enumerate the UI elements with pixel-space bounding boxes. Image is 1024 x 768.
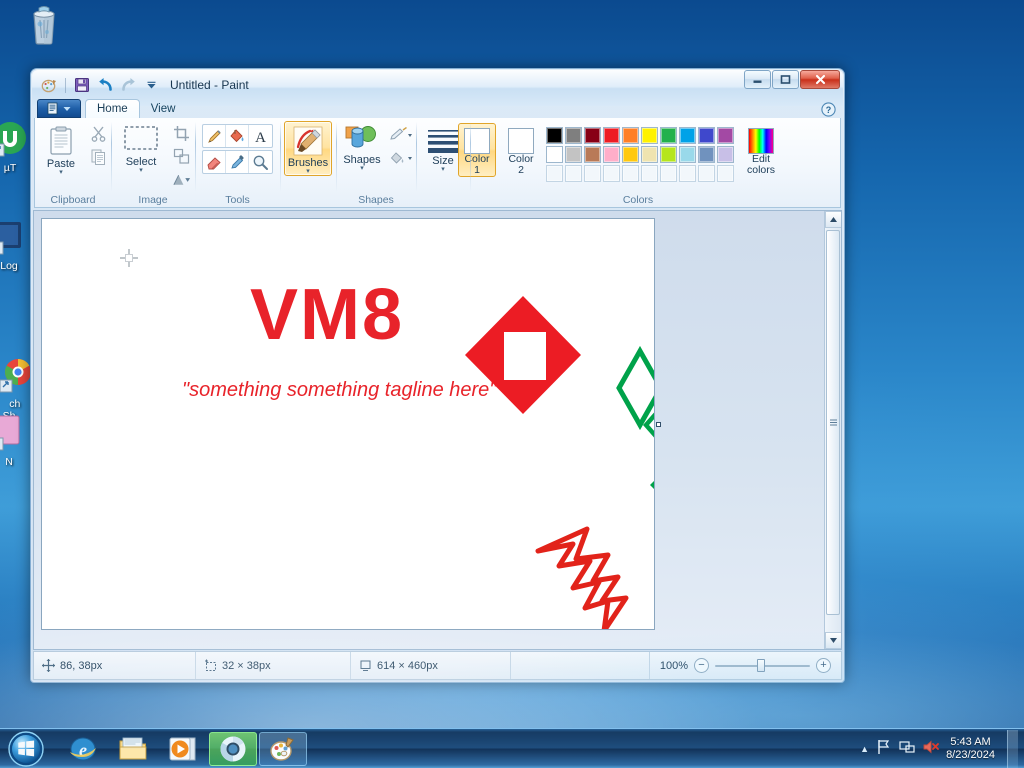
status-selection-size-text: 32 × 38px: [222, 660, 271, 672]
color-swatch-r3-c3[interactable]: [584, 165, 601, 182]
color-swatch-r2-c3[interactable]: [584, 146, 601, 163]
zoom-control[interactable]: 100% − +: [650, 658, 841, 673]
redo-icon[interactable]: [118, 76, 138, 95]
status-cursor-position: 86, 38px: [34, 652, 196, 679]
color-swatch-r1-c2[interactable]: [565, 127, 582, 144]
canvas-artwork: VM8 "something something tagline here": [42, 219, 655, 630]
taskbar[interactable]: e: [0, 728, 1024, 768]
desktop-icon-label: Log: [0, 260, 18, 272]
color-swatch-r1-c9[interactable]: [698, 127, 715, 144]
show-desktop-button[interactable]: [1007, 730, 1018, 768]
scroll-up-button[interactable]: [825, 211, 842, 228]
palette-row-1: [546, 127, 734, 144]
color-swatch-r1-c3[interactable]: [584, 127, 601, 144]
ribbon-group-colors: Color 1 Color 2 Edi: [470, 118, 770, 207]
eraser-tool-button[interactable]: [203, 151, 226, 173]
crop-button[interactable]: [170, 123, 192, 144]
clock-time: 5:43 AM: [946, 736, 995, 749]
ribbon-group-brushes: Brushes ▾: [280, 118, 336, 207]
color-swatch-r1-c4[interactable]: [603, 127, 620, 144]
internet-explorer-icon: e: [68, 734, 98, 764]
color-swatch-r1-c8[interactable]: [679, 127, 696, 144]
color-swatch-r1-c1[interactable]: [546, 127, 563, 144]
network-icon[interactable]: [899, 739, 915, 758]
chevron-down-icon[interactable]: ▾: [59, 170, 63, 176]
chromium-icon: [219, 735, 247, 763]
svg-text:A: A: [255, 130, 266, 145]
color-swatch-r3-c4[interactable]: [603, 165, 620, 182]
scissors-icon: [90, 125, 107, 142]
folder-explorer-icon: [118, 735, 148, 763]
clock-date: 8/23/2024: [946, 749, 995, 762]
taskbar-media-player[interactable]: [159, 732, 207, 766]
color-swatch-r2-c4[interactable]: [603, 146, 620, 163]
color-1-swatch: [464, 128, 490, 154]
color-swatch-r2-c9[interactable]: [698, 146, 715, 163]
group-label-colors: Colors: [578, 194, 698, 206]
start-orb-icon: [7, 730, 45, 768]
close-button[interactable]: [800, 70, 840, 89]
brushes-button[interactable]: Brushes ▾: [284, 121, 332, 176]
outline-pen-icon: [389, 127, 413, 144]
color-swatch-r2-c7[interactable]: [660, 146, 677, 163]
color-picker-button[interactable]: [226, 151, 249, 173]
window-title: Untitled - Paint: [170, 78, 249, 92]
drawing-canvas[interactable]: VM8 "something something tagline here": [41, 218, 655, 630]
tools-row-2: [202, 150, 273, 174]
chevron-down-icon[interactable]: ▾: [306, 169, 310, 175]
recycle-bin-icon: [8, 4, 80, 46]
green-diamond-tiny: [650, 477, 655, 493]
undo-icon[interactable]: [95, 76, 115, 95]
zoom-level-text: 100%: [660, 660, 688, 672]
status-cursor-position-text: 86, 38px: [60, 660, 102, 672]
zoom-out-button[interactable]: −: [694, 658, 709, 673]
fill-tool-button[interactable]: [226, 125, 249, 147]
artwork-tagline-text: "something something tagline here": [182, 379, 497, 401]
color-2-swatch: [508, 128, 534, 154]
artwork-title-text: VM8: [250, 275, 404, 355]
palette-row-2: [546, 146, 734, 163]
minimize-button[interactable]: [744, 70, 771, 89]
start-button[interactable]: [0, 730, 52, 768]
shape-outline-button[interactable]: [388, 125, 414, 146]
status-image-size-text: 614 × 460px: [377, 660, 438, 672]
shape-fill-button[interactable]: [388, 148, 414, 169]
ribbon-group-shapes: Shapes ▾: [336, 118, 416, 207]
status-image-size: 614 × 460px: [351, 652, 511, 679]
qat-separator: [65, 78, 66, 93]
color-swatch-r2-c1[interactable]: [546, 146, 563, 163]
status-selection-size: 32 × 38px: [196, 652, 351, 679]
color-swatch-r3-c9[interactable]: [698, 165, 715, 182]
select-rectangle-icon: [122, 125, 160, 155]
cut-button[interactable]: [87, 123, 109, 144]
color-swatch-r2-c8[interactable]: [679, 146, 696, 163]
action-center-flag-icon[interactable]: [876, 739, 892, 758]
taskbar-windows-explorer[interactable]: [109, 732, 157, 766]
magnifier-tool-button[interactable]: [249, 151, 272, 173]
magnifier-icon: [252, 154, 269, 171]
shapes-icon: [345, 125, 379, 153]
group-label-shapes: Shapes: [336, 194, 416, 206]
ribbon-group-clipboard: Paste ▾: [35, 118, 111, 207]
paste-icon: [45, 125, 77, 157]
edit-colors-icon: [748, 128, 774, 154]
color-1-label-line2: 1: [474, 165, 480, 176]
taskbar-paint-app[interactable]: [259, 732, 307, 766]
zoom-in-button[interactable]: +: [816, 658, 831, 673]
color-swatch-r3-c10[interactable]: [717, 165, 734, 182]
maximize-button[interactable]: [772, 70, 799, 89]
group-label-clipboard: Clipboard: [35, 194, 111, 206]
image-size-icon: [359, 659, 372, 672]
color-swatch-r1-c7[interactable]: [660, 127, 677, 144]
crosshair-cursor: [120, 249, 138, 267]
chevron-down-icon[interactable]: ▾: [360, 166, 364, 172]
color-swatch-r1-c6[interactable]: [641, 127, 658, 144]
color-palette[interactable]: [546, 123, 734, 182]
pencil-tool-button[interactable]: [203, 125, 226, 147]
tools-row-1: A: [202, 124, 273, 148]
desktop-background[interactable]: µT Log ch Sh: [0, 0, 1024, 768]
ribbon[interactable]: Paste ▾: [34, 118, 841, 208]
color-swatch-r3-c7[interactable]: [660, 165, 677, 182]
color-2-label-line2: 2: [518, 165, 524, 176]
fill-bucket-icon: [389, 150, 413, 167]
color-swatch-r3-c1[interactable]: [546, 165, 563, 182]
brushes-icon: [293, 126, 323, 156]
tab-view[interactable]: View: [140, 99, 187, 118]
svg-text:e: e: [79, 740, 87, 760]
text-a-icon: A: [252, 128, 269, 145]
scroll-down-button[interactable]: [825, 632, 842, 649]
desktop-icon-recycle-bin[interactable]: [8, 4, 80, 48]
line-thickness-icon: [426, 128, 460, 154]
tab-home[interactable]: Home: [85, 99, 140, 118]
window-controls[interactable]: [744, 70, 840, 89]
media-player-icon: [168, 735, 198, 763]
paint-taskbar-icon: [269, 735, 297, 763]
color-swatch-r2-c6[interactable]: [641, 146, 658, 163]
paint-window[interactable]: Untitled - Paint: [30, 68, 845, 683]
chevron-down-icon[interactable]: ▾: [139, 168, 143, 174]
clock[interactable]: 5:43 AM 8/23/2024: [946, 736, 995, 762]
text-tool-button[interactable]: A: [249, 125, 272, 147]
color-2-button[interactable]: Color 2: [502, 123, 540, 177]
copy-icon: [90, 148, 107, 165]
color-swatch-r2-c2[interactable]: [565, 146, 582, 163]
canvas-scroll-area[interactable]: VM8 "something something tagline here": [33, 210, 842, 650]
rotate-button[interactable]: [170, 169, 192, 190]
status-bar: 86, 38px 32 × 38px 614 × 460px 100% −: [33, 651, 842, 680]
rotate-icon: [171, 171, 191, 188]
color-swatch-r1-c5[interactable]: [622, 127, 639, 144]
quick-access-toolbar[interactable]: [39, 76, 161, 95]
group-label-tools: Tools: [195, 194, 280, 206]
ribbon-group-tools: A: [195, 118, 280, 207]
color-swatch-r3-c5[interactable]: [622, 165, 639, 182]
chevron-down-icon[interactable]: ▾: [441, 167, 445, 173]
selection-size-icon: [204, 659, 217, 672]
status-spacer: [511, 652, 650, 679]
edit-colors-label-line2: colors: [747, 165, 775, 176]
color-swatch-r3-c8[interactable]: [679, 165, 696, 182]
resize-icon: [173, 148, 190, 165]
customize-qat-icon[interactable]: [141, 76, 161, 95]
eraser-icon: [206, 154, 223, 171]
color-1-button[interactable]: Color 1: [458, 123, 496, 177]
paint-bucket-icon: [229, 128, 246, 145]
desktop-icon-label: µT: [4, 162, 16, 174]
color-swatch-r1-c10[interactable]: [717, 127, 734, 144]
eyedropper-icon: [229, 154, 246, 171]
ribbon-tab-strip[interactable]: Home View ?: [33, 99, 842, 118]
select-button[interactable]: Select ▾: [114, 121, 168, 175]
crop-icon: [173, 125, 190, 142]
color-swatch-r3-c6[interactable]: [641, 165, 658, 182]
desktop-icon-label: N: [5, 456, 13, 468]
paste-button[interactable]: Paste ▾: [37, 121, 85, 177]
zoom-slider-thumb[interactable]: [757, 659, 765, 672]
copy-button[interactable]: [87, 146, 109, 167]
green-diamond-large: [619, 351, 655, 425]
paint-app-icon[interactable]: [39, 76, 59, 95]
red-lightning-bolt: [538, 529, 626, 630]
group-label-image: Image: [111, 194, 195, 206]
taskbar-internet-explorer[interactable]: e: [59, 732, 107, 766]
save-icon[interactable]: [72, 76, 92, 95]
color-swatch-r2-c10[interactable]: [717, 146, 734, 163]
vertical-scrollbar-thumb[interactable]: [826, 230, 840, 615]
system-tray[interactable]: ▲ 5:43 AM 8/23/: [860, 729, 1024, 768]
resize-button[interactable]: [170, 146, 192, 167]
vertical-scrollbar[interactable]: [824, 211, 841, 649]
zoom-slider[interactable]: [715, 659, 810, 672]
color-swatch-r3-c2[interactable]: [565, 165, 582, 182]
pencil-icon: [206, 128, 223, 145]
volume-muted-icon[interactable]: [922, 739, 939, 758]
title-bar[interactable]: Untitled - Paint: [33, 71, 842, 99]
palette-row-3: [546, 165, 734, 182]
ribbon-group-image: Select ▾: [111, 118, 195, 207]
file-menu-button[interactable]: [37, 99, 81, 118]
edit-colors-button[interactable]: Edit colors: [740, 123, 782, 177]
taskbar-chromium-browser[interactable]: [209, 732, 257, 766]
cursor-position-icon: [42, 659, 55, 672]
help-icon[interactable]: ?: [821, 102, 836, 117]
canvas-resize-handle-right[interactable]: [656, 422, 661, 427]
show-hidden-icons-chevron[interactable]: ▲: [860, 744, 869, 754]
svg-text:?: ?: [826, 105, 832, 115]
color-swatch-r2-c5[interactable]: [622, 146, 639, 163]
shapes-button[interactable]: Shapes ▾: [338, 121, 386, 173]
